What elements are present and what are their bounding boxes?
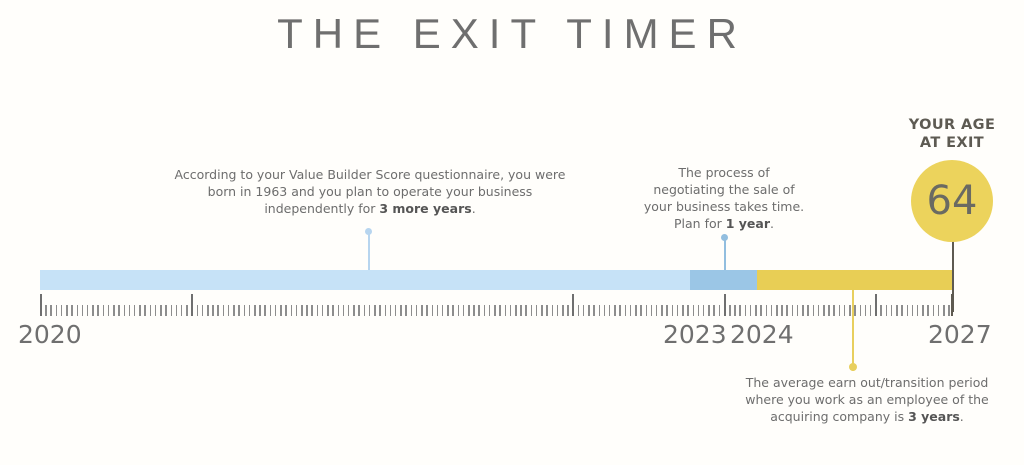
ruler-tick-minor bbox=[833, 305, 835, 316]
ruler-tick-minor bbox=[922, 305, 924, 316]
ruler-tick-minor bbox=[71, 305, 73, 316]
ruler-tick-minor bbox=[259, 305, 261, 316]
ruler-tick-minor bbox=[541, 305, 543, 316]
ruler-tick-minor bbox=[886, 305, 888, 316]
ruler-tick-minor bbox=[661, 305, 663, 316]
ruler-tick-minor bbox=[118, 305, 120, 316]
age-at-exit-value: 64 bbox=[927, 181, 978, 221]
ruler-tick-minor bbox=[353, 305, 355, 316]
ruler-tick-major bbox=[40, 294, 42, 316]
ruler-tick-minor bbox=[217, 305, 219, 316]
ruler-tick-minor bbox=[656, 305, 658, 316]
ruler-tick-minor bbox=[771, 305, 773, 316]
ruler-tick-minor bbox=[478, 305, 480, 316]
ruler-tick-minor bbox=[693, 305, 695, 316]
ruler-tick-minor bbox=[666, 305, 668, 316]
ruler-tick-minor bbox=[938, 305, 940, 316]
ruler-tick-major bbox=[191, 294, 193, 316]
ruler-tick-minor bbox=[891, 305, 893, 316]
annotation-operate-independently: According to your Value Builder Score qu… bbox=[170, 166, 570, 217]
ruler-tick-minor bbox=[588, 305, 590, 316]
ruler-tick-minor bbox=[943, 305, 945, 316]
ruler-tick-minor bbox=[912, 305, 914, 316]
ruler-tick-minor bbox=[499, 305, 501, 316]
ruler-tick-minor bbox=[416, 305, 418, 316]
ruler-tick-minor bbox=[760, 305, 762, 316]
ruler-tick-minor bbox=[745, 305, 747, 316]
ruler-tick-minor bbox=[776, 305, 778, 316]
ruler-tick-minor bbox=[244, 305, 246, 316]
ruler-tick-minor bbox=[317, 305, 319, 316]
ruler-tick-minor bbox=[437, 305, 439, 316]
ruler-tick-minor bbox=[254, 305, 256, 316]
ruler-tick-minor bbox=[818, 305, 820, 316]
ruler-tick-minor bbox=[927, 305, 929, 316]
ruler-tick-minor bbox=[129, 305, 131, 316]
ruler-tick-minor bbox=[865, 305, 867, 316]
ruler-tick-minor bbox=[703, 305, 705, 316]
ruler-tick-minor bbox=[739, 305, 741, 316]
ruler-tick-minor bbox=[797, 305, 799, 316]
ruler-tick-minor bbox=[322, 305, 324, 316]
page-title: THE EXIT TIMER bbox=[0, 10, 1024, 58]
ruler-tick-major bbox=[875, 294, 877, 316]
annotation-earnout-text-after: . bbox=[960, 409, 964, 424]
ruler-tick-minor bbox=[66, 305, 68, 316]
ruler-tick-minor bbox=[640, 305, 642, 316]
ruler-tick-minor bbox=[395, 305, 397, 316]
ruler-tick-minor bbox=[212, 305, 214, 316]
ruler-tick-minor bbox=[599, 305, 601, 316]
ruler-tick-minor bbox=[400, 305, 402, 316]
ruler-tick-minor bbox=[520, 305, 522, 316]
ruler-tick-minor bbox=[458, 305, 460, 316]
ruler-tick-minor bbox=[854, 305, 856, 316]
ruler-tick-minor bbox=[593, 305, 595, 316]
ruler-tick-minor bbox=[625, 305, 627, 316]
annotation-negotiate-sale: The process of negotiating the sale of y… bbox=[641, 164, 807, 232]
timeline-segment-earnout bbox=[757, 270, 952, 290]
ruler-tick-minor bbox=[802, 305, 804, 316]
ruler-tick-minor bbox=[181, 305, 183, 316]
ruler-tick-minor bbox=[839, 305, 841, 316]
ruler-tick-minor bbox=[108, 305, 110, 316]
pointer-dot-earnout bbox=[849, 363, 857, 371]
ruler-tick-minor bbox=[766, 305, 768, 316]
ruler-tick-minor bbox=[755, 305, 757, 316]
ruler-tick-minor bbox=[917, 305, 919, 316]
ruler-tick-minor bbox=[296, 305, 298, 316]
ruler-tick-minor bbox=[144, 305, 146, 316]
ruler-tick-minor bbox=[207, 305, 209, 316]
ruler-tick-minor bbox=[442, 305, 444, 316]
ruler-tick-minor bbox=[275, 305, 277, 316]
ruler-tick-minor bbox=[405, 305, 407, 316]
ruler-tick-minor bbox=[134, 305, 136, 316]
annotation-operate-text-after: . bbox=[472, 201, 476, 216]
ruler-tick-minor bbox=[77, 305, 79, 316]
timeline-segment-operate bbox=[40, 270, 690, 290]
ruler-tick-minor bbox=[562, 305, 564, 316]
ruler-tick-minor bbox=[807, 305, 809, 316]
ruler-tick-minor bbox=[291, 305, 293, 316]
ruler-tick-minor bbox=[452, 305, 454, 316]
ruler-tick-minor bbox=[515, 305, 517, 316]
ruler-tick-minor bbox=[505, 305, 507, 316]
ruler-tick-minor bbox=[651, 305, 653, 316]
ruler-tick-minor bbox=[860, 305, 862, 316]
annotation-operate-emphasis: 3 more years bbox=[379, 201, 471, 216]
ruler-tick-minor bbox=[374, 305, 376, 316]
ruler-tick-minor bbox=[82, 305, 84, 316]
ruler-tick-minor bbox=[343, 305, 345, 316]
ruler-tick-minor bbox=[870, 305, 872, 316]
ruler-tick-minor bbox=[682, 305, 684, 316]
ruler-tick-minor bbox=[327, 305, 329, 316]
ruler-tick-minor bbox=[484, 305, 486, 316]
ruler-tick-minor bbox=[421, 305, 423, 316]
ruler-tick-minor bbox=[338, 305, 340, 316]
exit-timer-infographic: THE EXIT TIMER According to your Value B… bbox=[0, 0, 1024, 465]
ruler-tick-minor bbox=[280, 305, 282, 316]
ruler-tick-minor bbox=[933, 305, 935, 316]
ruler-tick-minor bbox=[176, 305, 178, 316]
ruler-tick-minor bbox=[411, 305, 413, 316]
annotation-negotiate-text-after: . bbox=[770, 216, 774, 231]
ruler-tick-minor bbox=[97, 305, 99, 316]
ruler-tick-minor bbox=[369, 305, 371, 316]
ruler-tick-minor bbox=[604, 305, 606, 316]
year-label-2023: 2023 bbox=[663, 320, 727, 349]
annotation-earnout-emphasis: 3 years bbox=[908, 409, 960, 424]
ruler-tick-minor bbox=[567, 305, 569, 316]
ruler-tick-minor bbox=[56, 305, 58, 316]
ruler-tick-minor bbox=[385, 305, 387, 316]
ruler-tick-minor bbox=[139, 305, 141, 316]
ruler-tick-minor bbox=[186, 305, 188, 316]
ruler-tick-minor bbox=[285, 305, 287, 316]
ruler-tick-minor bbox=[228, 305, 230, 316]
ruler-tick-minor bbox=[948, 305, 950, 316]
ruler-tick-minor bbox=[849, 305, 851, 316]
ruler-tick-minor bbox=[687, 305, 689, 316]
timeline-bar bbox=[40, 270, 952, 290]
ruler-tick-minor bbox=[828, 305, 830, 316]
ruler-tick-minor bbox=[379, 305, 381, 316]
ruler-tick-minor bbox=[160, 305, 162, 316]
ruler-tick-minor bbox=[635, 305, 637, 316]
ruler-tick-minor bbox=[264, 305, 266, 316]
ruler-tick-minor bbox=[536, 305, 538, 316]
ruler-tick-minor bbox=[901, 305, 903, 316]
ruler-tick-minor bbox=[781, 305, 783, 316]
annotation-negotiate-emphasis: 1 year bbox=[726, 216, 770, 231]
ruler-tick-minor bbox=[578, 305, 580, 316]
ruler-tick-minor bbox=[233, 305, 235, 316]
ruler-tick-minor bbox=[525, 305, 527, 316]
ruler-tick-minor bbox=[155, 305, 157, 316]
ruler-tick-minor bbox=[614, 305, 616, 316]
ruler-tick-minor bbox=[103, 305, 105, 316]
timeline-segment-negotiate bbox=[690, 270, 757, 290]
ruler-tick-minor bbox=[734, 305, 736, 316]
ruler-tick-minor bbox=[531, 305, 533, 316]
ruler-tick-minor bbox=[698, 305, 700, 316]
ruler-tick-minor bbox=[510, 305, 512, 316]
age-caption-line1: YOUR AGE bbox=[878, 116, 1024, 134]
ruler-tick-minor bbox=[390, 305, 392, 316]
ruler-tick-minor bbox=[672, 305, 674, 316]
ruler-tick-minor bbox=[124, 305, 126, 316]
ruler-tick-minor bbox=[165, 305, 167, 316]
ruler-tick-minor bbox=[447, 305, 449, 316]
ruler-tick-minor bbox=[708, 305, 710, 316]
ruler-tick-minor bbox=[677, 305, 679, 316]
ruler-tick-minor bbox=[463, 305, 465, 316]
annotation-operate-text-before: According to your Value Builder Score qu… bbox=[175, 167, 566, 216]
ruler-tick-minor bbox=[630, 305, 632, 316]
ruler-tick-minor bbox=[171, 305, 173, 316]
ruler-tick-minor bbox=[494, 305, 496, 316]
year-label-2024: 2024 bbox=[730, 320, 794, 349]
ruler-tick-minor bbox=[348, 305, 350, 316]
ruler-tick-minor bbox=[609, 305, 611, 316]
ruler-tick-minor bbox=[150, 305, 152, 316]
ruler-tick-minor bbox=[426, 305, 428, 316]
ruler-tick-minor bbox=[823, 305, 825, 316]
ruler-tick-minor bbox=[792, 305, 794, 316]
ruler-tick-minor bbox=[713, 305, 715, 316]
age-caption-line2: AT EXIT bbox=[878, 134, 1024, 152]
ruler-tick-minor bbox=[92, 305, 94, 316]
ruler-tick-minor bbox=[306, 305, 308, 316]
ruler-tick-end bbox=[951, 294, 953, 316]
ruler-tick-minor bbox=[813, 305, 815, 316]
ruler-tick-minor bbox=[786, 305, 788, 316]
ruler-tick-minor bbox=[619, 305, 621, 316]
ruler-tick-major bbox=[724, 294, 726, 316]
ruler-tick-minor bbox=[223, 305, 225, 316]
year-label-2027: 2027 bbox=[928, 320, 992, 349]
ruler-tick-minor bbox=[546, 305, 548, 316]
ruler-tick-minor bbox=[432, 305, 434, 316]
ruler-tick-minor bbox=[880, 305, 882, 316]
annotation-negotiate-text-before: The process of negotiating the sale of y… bbox=[644, 165, 804, 231]
ruler-tick-minor bbox=[301, 305, 303, 316]
ruler-tick-minor bbox=[468, 305, 470, 316]
ruler-tick-minor bbox=[249, 305, 251, 316]
ruler-tick-minor bbox=[552, 305, 554, 316]
ruler-tick-minor bbox=[270, 305, 272, 316]
ruler-tick-minor bbox=[583, 305, 585, 316]
ruler-tick-minor bbox=[311, 305, 313, 316]
ruler-tick-minor bbox=[87, 305, 89, 316]
ruler-tick-minor bbox=[50, 305, 52, 316]
ruler-tick-minor bbox=[364, 305, 366, 316]
ruler-tick-minor bbox=[489, 305, 491, 316]
ruler-tick-minor bbox=[719, 305, 721, 316]
ruler-tick-minor bbox=[844, 305, 846, 316]
ruler-tick-minor bbox=[61, 305, 63, 316]
ruler-tick-minor bbox=[557, 305, 559, 316]
age-badge-caption: YOUR AGE AT EXIT bbox=[878, 116, 1024, 152]
ruler-tick-minor bbox=[473, 305, 475, 316]
ruler-tick-minor bbox=[729, 305, 731, 316]
age-at-exit-badge: 64 bbox=[911, 160, 993, 242]
ruler-tick-major bbox=[572, 294, 574, 316]
ruler-tick-minor bbox=[896, 305, 898, 316]
year-label-2020: 2020 bbox=[18, 320, 82, 349]
ruler-tick-minor bbox=[332, 305, 334, 316]
ruler-tick-minor bbox=[45, 305, 47, 316]
ruler-tick-minor bbox=[202, 305, 204, 316]
ruler-tick-minor bbox=[113, 305, 115, 316]
ruler-tick-minor bbox=[750, 305, 752, 316]
ruler-tick-minor bbox=[238, 305, 240, 316]
timeline-ruler bbox=[40, 294, 953, 316]
annotation-earn-out-transition: The average earn out/transition period w… bbox=[742, 374, 992, 425]
ruler-tick-minor bbox=[197, 305, 199, 316]
ruler-tick-minor bbox=[358, 305, 360, 316]
ruler-tick-minor bbox=[907, 305, 909, 316]
ruler-tick-minor bbox=[646, 305, 648, 316]
